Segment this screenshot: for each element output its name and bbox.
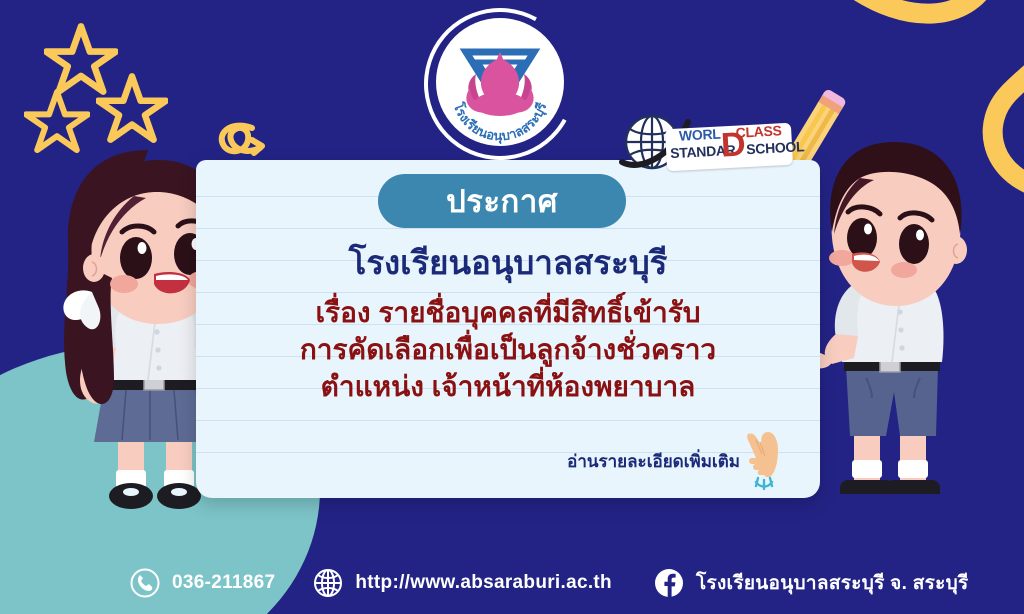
footer-website[interactable]: http://www.absaraburi.ac.th xyxy=(313,568,612,598)
school-logo: โรงเรียนอนุบาลสระบุรี xyxy=(424,8,576,160)
subject-line-3: ตำแหน่ง เจ้าหน้าที่ห้องพยาบาล xyxy=(196,369,820,406)
pointing-hand-down-icon xyxy=(744,430,784,492)
globe-icon xyxy=(313,568,343,598)
footer-website-url: http://www.absaraburi.ac.th xyxy=(355,572,612,594)
facebook-icon xyxy=(654,568,684,598)
announcement-pill: ประกาศ xyxy=(378,174,626,228)
logo-lotus-icon: โรงเรียนอนุบาลสระบุรี xyxy=(436,18,564,146)
subject-line-2: การคัดเลือกเพื่อเป็นลูกจ้างชั่วคราว xyxy=(196,332,820,369)
announcement-poster: โรงเรียนอนุบาลสระบุรี WORL -CLASS STANDA… xyxy=(0,0,1024,614)
boy-student xyxy=(796,130,996,510)
subject-line-1: เรื่อง รายชื่อบุคคลที่มีสิทธิ์เข้ารับ xyxy=(196,295,820,332)
star-outline-icon xyxy=(96,72,168,144)
footer-phone-number: 036-211867 xyxy=(172,572,275,594)
footer-phone: 036-211867 xyxy=(130,568,275,598)
badge-school-text: SCHOOL xyxy=(746,138,805,157)
announcement-pill-label: ประกาศ xyxy=(446,176,558,226)
badge-big-d-letter: D xyxy=(720,127,746,162)
announcement-subject: เรื่อง รายชื่อบุคคลที่มีสิทธิ์เข้ารับ กา… xyxy=(196,295,820,406)
badge-world-text: WORL xyxy=(679,126,721,144)
school-name-heading: โรงเรียนอนุบาลสระบุรี xyxy=(196,236,820,289)
read-more-label[interactable]: อ่านรายละเอียดเพิ่มเติม xyxy=(450,448,740,475)
footer-contact-bar: 036-211867 http://www.absaraburi.ac.th โ… xyxy=(0,552,1024,614)
footer-facebook-page: โรงเรียนอนุบาลสระบุรี จ. สระบุรี xyxy=(696,568,969,598)
footer-facebook[interactable]: โรงเรียนอนุบาลสระบุรี จ. สระบุรี xyxy=(654,568,969,598)
phone-icon xyxy=(130,568,160,598)
world-class-standard-school-badge: WORL -CLASS STANDAR SCHOOL D xyxy=(618,112,794,178)
